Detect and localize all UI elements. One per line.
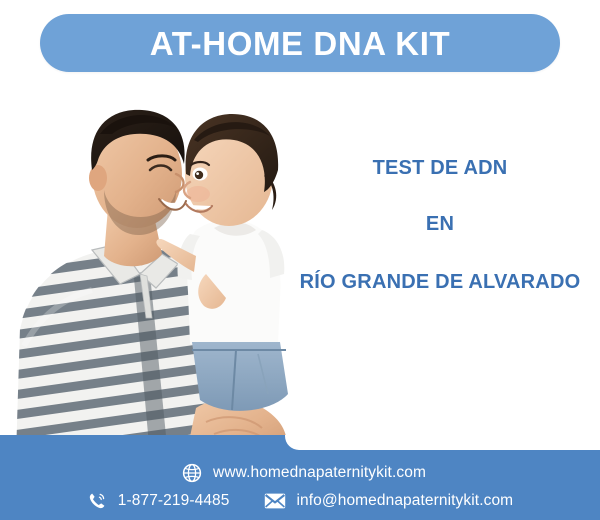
headline-line-2: EN <box>280 214 600 234</box>
headline-line-1: TEST DE ADN <box>280 158 600 178</box>
header-title-pill: AT-HOME DNA KIT <box>40 14 560 72</box>
headline-line-3: RíO GRANDE DE ALVARADO <box>280 272 600 292</box>
headline-block: TEST DE ADN EN RíO GRANDE DE ALVARADO <box>280 158 600 292</box>
page-title: AT-HOME DNA KIT <box>150 27 450 60</box>
dna-kit-promo-banner: AT-HOME DNA KIT <box>0 0 600 520</box>
footer-step-corner <box>285 435 600 450</box>
